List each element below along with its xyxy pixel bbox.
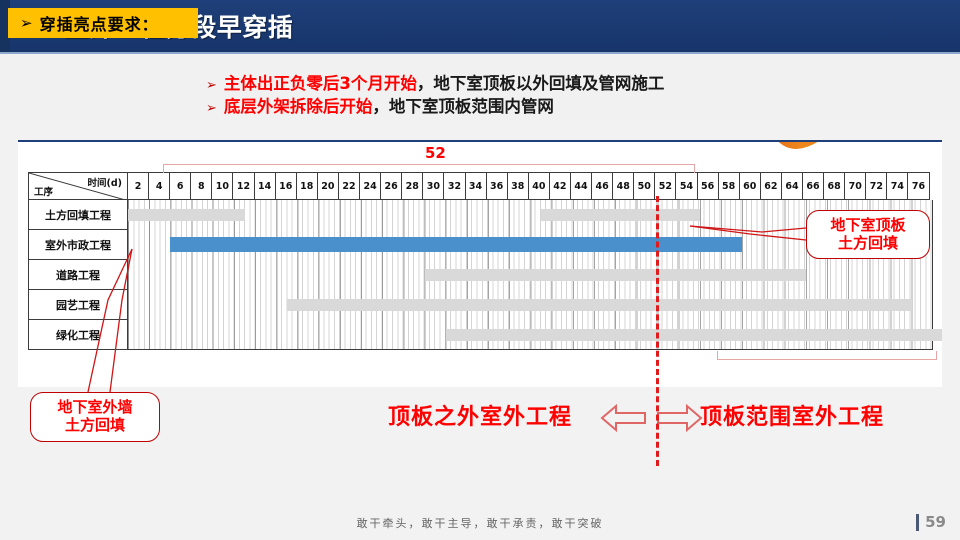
requirement-line-1: ➢ 主体出正负零后3个月开始 ，地下室顶板以外回填及管网施工 xyxy=(206,70,664,94)
axis-tick-70: 70 xyxy=(845,172,866,200)
gantt-row-label-4: 园艺工程 xyxy=(28,290,128,320)
footer-slogan: 敢干牵头，敢干主导，敢干承责，敢干突破 xyxy=(0,515,960,531)
axis-tick-60: 60 xyxy=(740,172,761,200)
axis-tick-38: 38 xyxy=(508,172,529,200)
gantt-chart: 时间(d) 工序 2468101214161820222426283032343… xyxy=(28,172,933,350)
gantt-bar-4-1 xyxy=(287,299,912,311)
zone-label-left: 顶板之外室外工程 xyxy=(388,399,572,431)
axis-tick-36: 36 xyxy=(487,172,508,200)
requirement-line-1-normal: ，地下室顶板以外回填及管网施工 xyxy=(417,70,665,94)
axis-tick-72: 72 xyxy=(866,172,887,200)
axis-tick-16: 16 xyxy=(276,172,297,200)
axis-tick-26: 26 xyxy=(381,172,402,200)
arrow-right-icon xyxy=(655,401,703,435)
gantt-row: 土方回填工程 xyxy=(28,200,933,230)
callout-bottom-line-2: 土方回填 xyxy=(65,417,125,435)
gantt-row: 道路工程 xyxy=(28,260,933,290)
callout-bottom-line-1: 地下室外墙 xyxy=(57,399,132,417)
page-number-value: 59 xyxy=(925,513,946,531)
span-label-52: 52 xyxy=(425,144,446,162)
span-brace-top xyxy=(163,164,695,173)
axis-y-label: 工序 xyxy=(34,184,53,198)
requirement-tag-label: 穿插亮点要求： xyxy=(40,11,159,35)
callout-top-line-1: 地下室顶板 xyxy=(830,217,905,235)
axis-tick-74: 74 xyxy=(887,172,908,200)
axis-tick-24: 24 xyxy=(360,172,381,200)
gantt-row-track xyxy=(128,290,933,320)
footer-page-number: 59 xyxy=(916,513,946,531)
gantt-bar-3-1 xyxy=(425,269,806,281)
triangle-bullet-icon: ➢ xyxy=(206,78,217,93)
axis-tick-54: 54 xyxy=(676,172,697,200)
gantt-row-label-3: 道路工程 xyxy=(28,260,128,290)
axis-tick-2: 2 xyxy=(128,172,149,200)
axis-tick-20: 20 xyxy=(318,172,339,200)
callout-basement-wall-backfill: 地下室外墙 土方回填 xyxy=(30,392,160,442)
axis-tick-14: 14 xyxy=(255,172,276,200)
zone-label-right: 顶板范围室外工程 xyxy=(700,399,884,431)
gantt-row-track xyxy=(128,260,933,290)
axis-tick-46: 46 xyxy=(592,172,613,200)
axis-tick-8: 8 xyxy=(191,172,212,200)
axis-tick-44: 44 xyxy=(571,172,592,200)
axis-tick-42: 42 xyxy=(550,172,571,200)
axis-tick-64: 64 xyxy=(782,172,803,200)
axis-tick-32: 32 xyxy=(444,172,465,200)
axis-x-label: 时间(d) xyxy=(88,175,122,189)
callout-top-line-2: 土方回填 xyxy=(838,235,898,253)
requirement-line-2-normal: ，地下室顶板范围内管网 xyxy=(372,93,554,117)
gantt-bar-1-1 xyxy=(128,209,245,221)
gantt-row-label-2: 室外市政工程 xyxy=(28,230,128,260)
gantt-header-row: 时间(d) 工序 2468101214161820222426283032343… xyxy=(28,172,933,200)
gantt-x-axis: 2468101214161820222426283032343638404244… xyxy=(128,172,930,200)
axis-tick-40: 40 xyxy=(529,172,550,200)
axis-tick-12: 12 xyxy=(233,172,254,200)
page-number-divider-icon xyxy=(916,514,919,531)
requirement-line-2: ➢ 底层外架拆除后开始 ，地下室顶板范围内管网 xyxy=(206,93,554,117)
gantt-bar-5-1 xyxy=(446,329,942,341)
axis-tick-18: 18 xyxy=(297,172,318,200)
gantt-row-label-5: 绿化工程 xyxy=(28,320,128,350)
axis-tick-30: 30 xyxy=(423,172,444,200)
triangle-bullet-icon: ➢ xyxy=(206,101,217,116)
gantt-row-label-1: 土方回填工程 xyxy=(28,200,128,230)
axis-tick-10: 10 xyxy=(212,172,233,200)
gantt-row-track xyxy=(128,320,933,350)
gantt-row: 绿化工程 xyxy=(28,320,933,350)
triangle-bullet-icon: ➢ xyxy=(20,16,33,31)
axis-tick-68: 68 xyxy=(824,172,845,200)
axis-tick-76: 76 xyxy=(908,172,929,200)
axis-tick-34: 34 xyxy=(466,172,487,200)
axis-tick-56: 56 xyxy=(698,172,719,200)
gantt-row: 室外市政工程 xyxy=(28,230,933,260)
requirement-tag: ➢ 穿插亮点要求： xyxy=(8,8,198,38)
gantt-bar-1-2 xyxy=(541,209,700,221)
axis-tick-50: 50 xyxy=(634,172,655,200)
arrow-left-icon xyxy=(600,401,648,435)
axis-tick-62: 62 xyxy=(761,172,782,200)
axis-tick-6: 6 xyxy=(170,172,191,200)
axis-tick-4: 4 xyxy=(149,172,170,200)
gantt-corner-cell: 时间(d) 工序 xyxy=(28,172,128,200)
axis-tick-66: 66 xyxy=(803,172,824,200)
axis-tick-28: 28 xyxy=(402,172,423,200)
gantt-row: 园艺工程 xyxy=(28,290,933,320)
axis-tick-22: 22 xyxy=(339,172,360,200)
span-brace-right xyxy=(717,351,937,360)
callout-basement-roof-backfill: 地下室顶板 土方回填 xyxy=(806,210,930,259)
axis-tick-48: 48 xyxy=(613,172,634,200)
requirement-line-1-strong: 主体出正负零后3个月开始 xyxy=(224,70,417,94)
axis-tick-58: 58 xyxy=(719,172,740,200)
orange-swoosh-decoration xyxy=(768,140,838,152)
gantt-body: 土方回填工程室外市政工程道路工程园艺工程绿化工程 xyxy=(28,200,933,350)
gantt-chart-panel: 时间(d) 工序 2468101214161820222426283032343… xyxy=(18,140,942,387)
split-divider-line xyxy=(656,196,659,466)
requirement-line-2-strong: 底层外架拆除后开始 xyxy=(224,93,373,117)
